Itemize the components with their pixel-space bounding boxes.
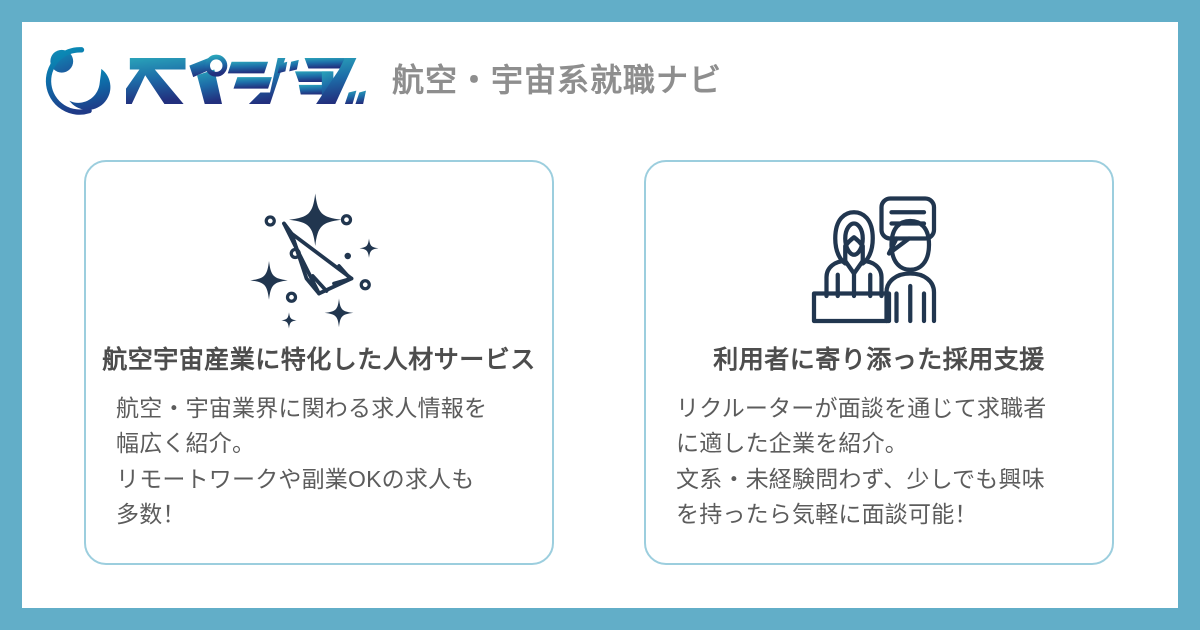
- card-2-body-line-1: リクルーターが面談を通じて求職者: [676, 391, 1090, 427]
- feature-card-2-title: 利用者に寄り添った採用支援: [713, 344, 1045, 377]
- card-1-body-line-3: リモートワークや副業OKの求人も: [116, 462, 530, 498]
- feature-card-1: 航空宇宙産業に特化した人材サービス 航空・宇宙業界に関わる求人情報を 幅広く紹介…: [84, 160, 554, 565]
- spacejob-swirl-logo-icon: [42, 43, 118, 119]
- outer-frame: 航空・宇宙系就職ナビ: [0, 0, 1200, 630]
- page-header: 航空・宇宙系就職ナビ: [42, 36, 722, 126]
- card-1-body-line-4: 多数！: [116, 497, 530, 533]
- feature-card-2: 利用者に寄り添った採用支援 リクルーターが面談を通じて求職者 に適した企業を紹介…: [644, 160, 1114, 565]
- content-canvas: 航空・宇宙系就職ナビ: [22, 22, 1178, 608]
- card-1-body-line-1: 航空・宇宙業界に関わる求人情報を: [116, 391, 530, 427]
- card-1-body-line-2: 幅広く紹介。: [116, 426, 530, 462]
- feature-card-1-body: 航空・宇宙業界に関わる求人情報を 幅広く紹介。 リモートワークや副業OKの求人も…: [108, 391, 530, 534]
- card-2-body-line-3: 文系・未経験問わず、少しでも興味: [676, 462, 1090, 498]
- feature-card-list: 航空宇宙産業に特化した人材サービス 航空・宇宙業界に関わる求人情報を 幅広く紹介…: [84, 160, 1114, 565]
- card-2-body-line-4: を持ったら気軽に面談可能！: [676, 497, 1090, 533]
- feature-card-1-title: 航空宇宙産業に特化した人材サービス: [102, 344, 536, 377]
- interview-consultation-icon: [804, 186, 954, 336]
- spacejob-wordmark-icon: [126, 50, 366, 112]
- site-tagline: 航空・宇宙系就職ナビ: [392, 64, 722, 98]
- brand-logo[interactable]: [42, 43, 366, 119]
- rocket-sparkles-icon: [244, 186, 394, 336]
- card-2-body-line-2: に適した企業を紹介。: [676, 426, 1090, 462]
- feature-card-2-body: リクルーターが面談を通じて求職者 に適した企業を紹介。 文系・未経験問わず、少し…: [668, 391, 1090, 534]
